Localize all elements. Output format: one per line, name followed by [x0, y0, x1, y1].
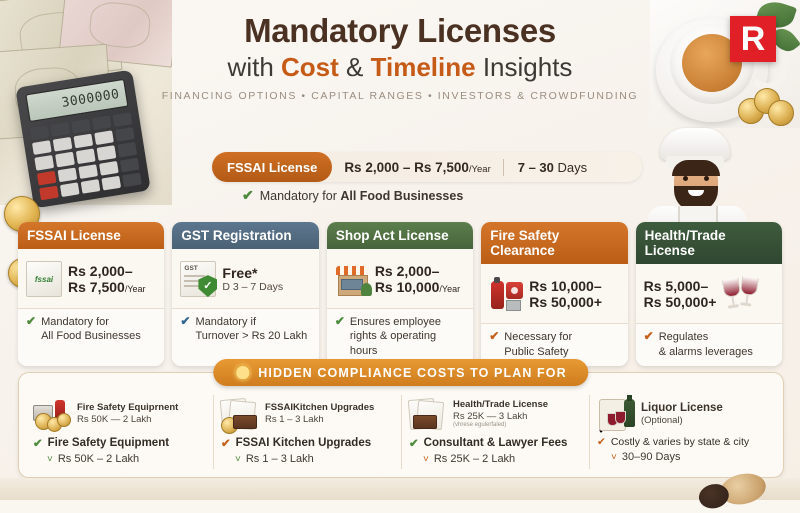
hidden-cost-value-row: ˅ 30–90 Days: [597, 451, 769, 463]
check-icon: ✔: [221, 436, 231, 450]
page-subtitle: with Cost & Timeline Insights: [150, 53, 650, 82]
banner-row: FSSAI License Rs 2,000 – Rs 7,500/Year 7…: [212, 152, 642, 182]
calculator-icon: 3000000: [15, 70, 151, 209]
header: Mandatory Licenses with Cost & Timeline …: [150, 14, 650, 102]
banner-timeline: 7 – 30 Days: [504, 160, 601, 175]
card-price-line2: Rs 50,000+: [529, 294, 602, 311]
hidden-cost-caption-title: FSSAIKitchen Upgrades: [265, 402, 374, 414]
banner-price-value: Rs 2,000 – Rs 7,500: [344, 160, 469, 175]
card-price-line1: Rs 5,000–: [644, 278, 717, 295]
subtitle-highlight-timeline: Timeline: [371, 52, 476, 82]
fire-extinguisher-alarm-icon: [489, 277, 523, 311]
calculator-display-value: 3000000: [61, 86, 121, 110]
card-footnote: ✔ Mandatory forAll Food Businesses: [18, 308, 164, 366]
card-shop-act-license[interactable]: Shop Act License Rs 2,000– Rs 10,000/Yea…: [327, 222, 473, 366]
check-icon: ˅: [611, 452, 617, 463]
card-price: Rs 10,000– Rs 50,000+: [529, 278, 602, 311]
check-icon: ✔: [180, 315, 190, 328]
hidden-compliance-costs-section: HIDDEN COMPLIANCE COSTS TO PLAN FOR Fire…: [18, 372, 784, 478]
hidden-cost-caption-note: (vhrese egulerfaled): [453, 422, 548, 429]
card-price: Free* D 3 – 7 Days: [222, 265, 283, 294]
hidden-cost-label-row: ✔ FSSAI Kitchen Upgrades: [221, 436, 393, 450]
fssai-summary-banner: FSSAI License Rs 2,000 – Rs 7,500/Year 7…: [212, 152, 642, 204]
card-fire-safety-clearance[interactable]: Fire Safety Clearance Rs 10,000– Rs 50,0…: [481, 222, 627, 366]
hidden-cost-label: Consultant & Lawyer Fees: [424, 437, 568, 449]
hidden-cost-label: Fire Safety Equipment: [48, 437, 169, 449]
fssai-document-icon: fssai: [26, 261, 62, 297]
hidden-cost-caption-value: (Optional): [641, 415, 723, 427]
subtitle-mid: &: [339, 52, 371, 82]
hidden-cost-value-row: ˅ Rs 1 – 3 Lakh: [221, 453, 393, 465]
check-icon: ˅: [235, 454, 241, 465]
card-price-unit: /Year: [125, 284, 146, 294]
hidden-cost-item[interactable]: Health/Trade License Rs 25K — 3 Lakh (vh…: [401, 391, 589, 473]
card-title: FSSAI License: [18, 222, 164, 249]
check-icon: ✔: [644, 330, 654, 343]
card-footnote-text: Necessary forPublic Safety: [504, 330, 572, 359]
card-footnote-text: Mandatory forAll Food Businesses: [41, 315, 141, 344]
hidden-cost-value-row: ˅ Rs 25K – 2 Lakh: [409, 453, 581, 465]
check-icon: ✔: [489, 330, 499, 343]
hidden-cost-item[interactable]: FSSAIKitchen Upgrades Rs 1 – 3 Lakh ✔ FS…: [213, 391, 401, 473]
card-price-line2: Rs 10,000: [375, 279, 440, 295]
card-price-line1: Rs 10,000–: [529, 278, 602, 295]
brand-logo[interactable]: R: [730, 16, 776, 62]
card-footnote-text: Mandatory ifTurnover > Rs 20 Lakh: [195, 315, 307, 344]
coffee-cup-photo: [650, 0, 800, 128]
card-price-line1: Rs 2,000–: [68, 263, 146, 280]
card-body: Rs 10,000– Rs 50,000+: [481, 264, 627, 323]
card-body: GST Free* D 3 – 7 Days: [172, 249, 318, 308]
gst-document-shield-icon: GST: [180, 261, 216, 297]
card-fssai-license[interactable]: FSSAI License fssai Rs 2,000– Rs 7,500/Y…: [18, 222, 164, 366]
card-body: Rs 5,000– Rs 50,000+: [636, 264, 782, 323]
hidden-cost-value-row: ˅ Rs 50K – 2 Lakh: [33, 453, 205, 465]
hidden-cost-caption-value: Rs 25K — 3 Lakh: [453, 411, 548, 423]
banner-price-unit: /Year: [469, 164, 491, 175]
hidden-cost-value: Rs 1 – 3 Lakh: [246, 453, 314, 465]
subtitle-highlight-cost: Cost: [281, 52, 339, 82]
hidden-cost-item[interactable]: ✓ ✓ ✓ Liquor License (Optional) ✔ Costly…: [589, 391, 777, 473]
card-price-line1: Free*: [222, 265, 283, 282]
card-price-line2: Rs 50,000+: [644, 294, 717, 311]
fssai-documents-money-icon: [221, 399, 259, 429]
hidden-cost-caption-value: Rs 1 – 3 Lakh: [265, 414, 374, 426]
check-icon: ✔: [33, 436, 43, 450]
certificate-briefcase-icon: [409, 399, 447, 429]
hidden-cost-caption-title: Fire Safety Equiprnent: [77, 402, 178, 414]
card-price-line1: Rs 2,000–: [375, 263, 460, 280]
hidden-cost-label: Costly & varies by state & city: [611, 436, 749, 448]
hidden-cost-label-row: ✔ Fire Safety Equipment: [33, 436, 205, 450]
fire-extinguisher-coins-icon: [33, 399, 71, 429]
calculator-keypad: [30, 112, 142, 200]
card-footnote-text: Ensures employeerights & operating hours: [350, 315, 465, 358]
banner-note-text: Mandatory for All Food Businesses: [260, 189, 464, 203]
infographic-canvas: 3000000 R Mandatory Lice: [0, 0, 800, 500]
hidden-costs-grid: Fire Safety Equiprnent Rs 50K — 2 Lakh ✔…: [25, 391, 777, 473]
license-cards-row: FSSAI License fssai Rs 2,000– Rs 7,500/Y…: [18, 222, 782, 366]
hidden-cost-label-row: ✔ Costly & varies by state & city: [597, 436, 769, 448]
hidden-cost-caption-title: Health/Trade License: [453, 399, 548, 411]
hidden-cost-item[interactable]: Fire Safety Equiprnent Rs 50K — 2 Lakh ✔…: [25, 391, 213, 473]
card-footnote: ✔ Regulates& alarms leverages: [636, 323, 782, 366]
hidden-costs-heading-text: HIDDEN COMPLIANCE COSTS TO PLAN FOR: [258, 366, 566, 380]
hidden-costs-heading: HIDDEN COMPLIANCE COSTS TO PLAN FOR: [213, 359, 588, 386]
card-title: Health/Trade License: [636, 222, 782, 264]
banner-timeline-unit: Days: [554, 160, 587, 175]
hidden-cost-value: Rs 50K – 2 Lakh: [58, 453, 139, 465]
hidden-cost-caption-title: Liquor License: [641, 401, 723, 415]
card-health-trade-license[interactable]: Health/Trade License Rs 5,000– Rs 50,000…: [636, 222, 782, 366]
wine-glasses-icon: [722, 277, 766, 311]
check-icon: ˅: [47, 454, 53, 465]
card-title: Fire Safety Clearance: [481, 222, 627, 264]
banner-note: ✔ Mandatory for All Food Businesses: [212, 187, 642, 204]
subtitle-post: Insights: [476, 52, 573, 82]
storefront-icon: [335, 262, 369, 296]
card-price-line2: Rs 7,500: [68, 279, 125, 295]
hidden-cost-label-row: ✔ Consultant & Lawyer Fees: [409, 436, 581, 450]
banner-timeline-value: 7 – 30: [518, 160, 554, 175]
check-icon: ✔: [242, 187, 254, 204]
card-footnote: ✔ Ensures employeerights & operating hou…: [327, 308, 473, 366]
card-footnote-text: Regulates& alarms leverages: [659, 330, 753, 359]
card-footnote: ✔ Mandatory ifTurnover > Rs 20 Lakh: [172, 308, 318, 366]
check-icon: ✔: [409, 436, 419, 450]
hidden-cost-label: FSSAI Kitchen Upgrades: [236, 437, 371, 449]
card-body: Rs 2,000– Rs 10,000/Year: [327, 249, 473, 308]
banner-price: Rs 2,000 – Rs 7,500/Year: [332, 160, 502, 175]
card-title: Shop Act License: [327, 222, 473, 249]
card-price: Rs 5,000– Rs 50,000+: [644, 278, 717, 311]
card-price: Rs 2,000– Rs 10,000/Year: [375, 263, 460, 296]
card-body: fssai Rs 2,000– Rs 7,500/Year: [18, 249, 164, 308]
clipboard-wine-bottle-icon: ✓ ✓ ✓: [597, 399, 635, 429]
check-icon: ˅: [423, 454, 429, 465]
bottom-decorative-strip: [0, 478, 800, 500]
lightbulb-icon: [235, 365, 250, 380]
card-price-unit: /Year: [439, 284, 460, 294]
coin-stack-icon: [738, 84, 794, 124]
page-title: Mandatory Licenses: [150, 14, 650, 49]
header-eyebrow: FINANCING OPTIONS • CAPITAL RANGES • INV…: [150, 90, 650, 102]
card-price: Rs 2,000– Rs 7,500/Year: [68, 263, 146, 296]
hidden-cost-value: Rs 25K – 2 Lakh: [434, 453, 515, 465]
check-icon: ✔: [335, 315, 345, 328]
brand-logo-letter: R: [741, 22, 766, 56]
subtitle-pre: with: [228, 52, 281, 82]
hidden-cost-caption-value: Rs 50K — 2 Lakh: [77, 414, 178, 426]
hidden-cost-value: 30–90 Days: [622, 451, 681, 463]
banner-pill-label: FSSAI License: [212, 152, 332, 182]
check-shield-icon: ✔: [26, 315, 36, 328]
card-price-sub: D 3 – 7 Days: [222, 281, 283, 293]
card-gst-registration[interactable]: GST Registration GST Free* D 3 – 7 Days …: [172, 222, 318, 366]
card-title: GST Registration: [172, 222, 318, 249]
